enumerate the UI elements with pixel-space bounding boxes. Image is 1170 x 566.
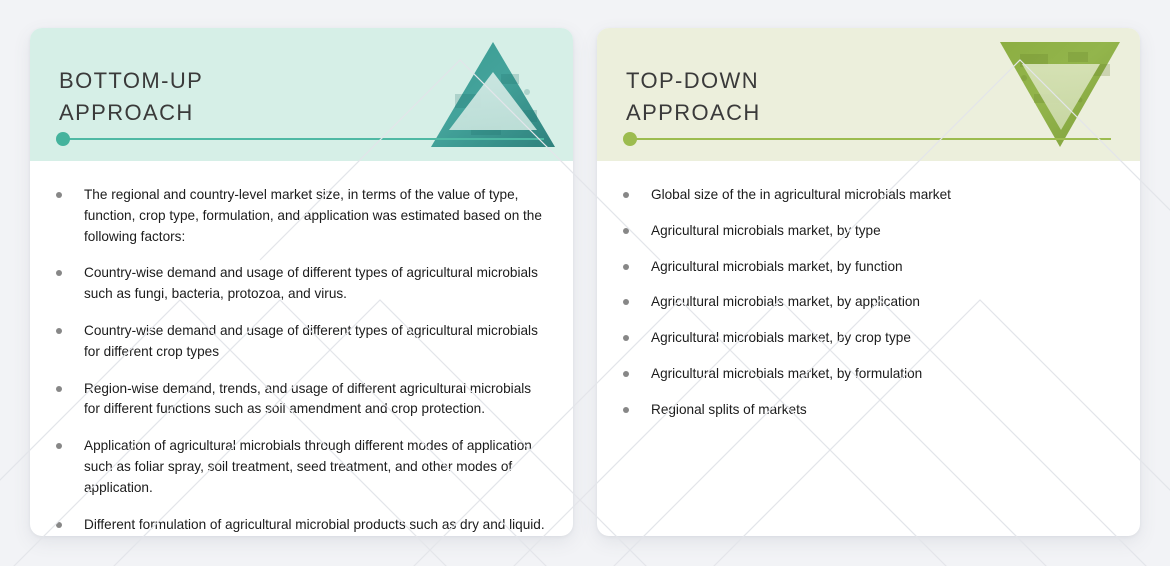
list-item-text: Agricultural microbials market, by type [651,221,881,242]
top-down-title: TOP-DOWN APPROACH [626,65,761,129]
list-item-text: Agricultural microbials market, by appli… [651,292,920,313]
bottom-up-bullet-list: The regional and country-level market si… [30,161,573,535]
bullet-icon [623,299,629,305]
bullet-icon [623,264,629,270]
list-item-text: Region-wise demand, trends, and usage of… [84,379,547,421]
list-item: Agricultural microbials market, by appli… [623,292,1114,313]
bullet-icon [56,270,62,276]
bottom-up-approach-card: BOTTOM-UP APPROACH [30,28,573,536]
list-item-text: Different formulation of agricultural mi… [84,515,545,536]
list-item-text: Agricultural microbials market, by funct… [651,257,903,278]
bullet-icon [56,443,62,449]
list-item-text: Agricultural microbials market, by crop … [651,328,911,349]
bottom-up-header: BOTTOM-UP APPROACH [30,28,573,161]
list-item-text: Application of agricultural microbials t… [84,436,547,498]
top-down-header: TOP-DOWN APPROACH [597,28,1140,161]
list-item: Region-wise demand, trends, and usage of… [56,379,547,421]
list-item-text: Country-wise demand and usage of differe… [84,321,547,363]
list-item: Country-wise demand and usage of differe… [56,263,547,305]
bottom-up-accent-dot [56,132,70,146]
bullet-icon [56,328,62,334]
list-item-text: The regional and country-level market si… [84,185,547,247]
list-item-text: Global size of the in agricultural micro… [651,185,951,206]
bullet-icon [56,386,62,392]
list-item: Agricultural microbials market, by funct… [623,257,1114,278]
list-item-text: Agricultural microbials market, by formu… [651,364,922,385]
list-item-text: Country-wise demand and usage of differe… [84,263,547,305]
approach-comparison-diagram: BOTTOM-UP APPROACH [0,0,1170,566]
bullet-icon [623,407,629,413]
list-item: Regional splits of markets [623,400,1114,421]
list-item: Agricultural microbials market, by crop … [623,328,1114,349]
list-item: The regional and country-level market si… [56,185,547,247]
list-item: Agricultural microbials market, by type [623,221,1114,242]
list-item: Agricultural microbials market, by formu… [623,364,1114,385]
top-down-accent-dot [623,132,637,146]
list-item: Global size of the in agricultural micro… [623,185,1114,206]
bullet-icon [623,371,629,377]
bullet-icon [56,522,62,528]
bullet-icon [623,192,629,198]
bullet-icon [56,192,62,198]
bottom-up-title: BOTTOM-UP APPROACH [59,65,203,129]
list-item: Different formulation of agricultural mi… [56,515,547,536]
bullet-icon [623,335,629,341]
list-item: Country-wise demand and usage of differe… [56,321,547,363]
list-item: Application of agricultural microbials t… [56,436,547,498]
list-item-text: Regional splits of markets [651,400,807,421]
top-down-bullet-list: Global size of the in agricultural micro… [597,161,1140,421]
bottom-up-accent-rule [59,138,544,140]
top-down-accent-rule [626,138,1111,140]
top-down-approach-card: TOP-DOWN APPROACH [597,28,1140,536]
bullet-icon [623,228,629,234]
